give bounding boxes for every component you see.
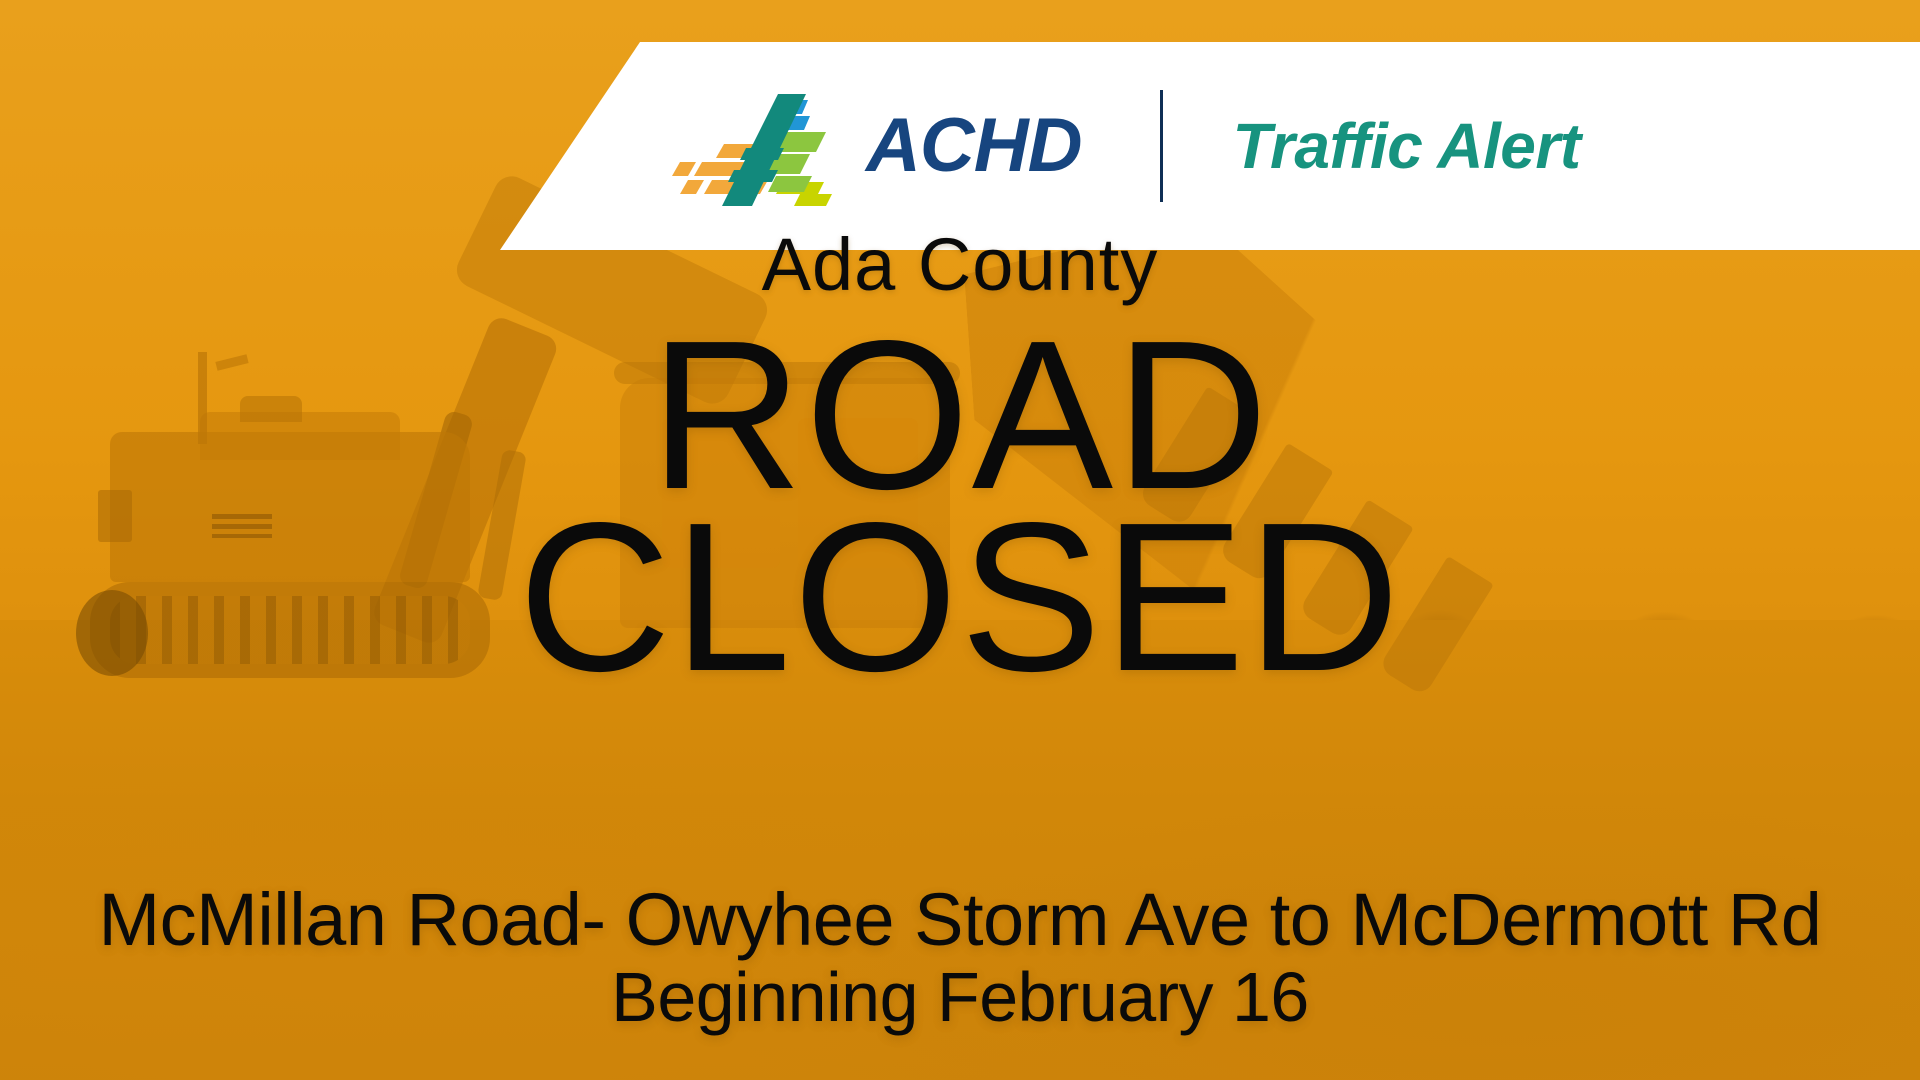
traffic-alert-graphic: ACHD Traffic Alert Ada County ROAD CLOSE… (0, 0, 1920, 1080)
achd-logo-icon (660, 86, 860, 206)
closure-location: McMillan Road- Owyhee Storm Ave to McDer… (0, 881, 1920, 959)
alert-copy: Ada County ROAD CLOSED (0, 228, 1920, 689)
banner-divider (1160, 90, 1163, 202)
alert-details: McMillan Road- Owyhee Storm Ave to McDer… (0, 881, 1920, 1034)
traffic-alert-label: Traffic Alert (1233, 114, 1581, 178)
headline: ROAD CLOSED (0, 324, 1920, 689)
achd-wordmark: ACHD (866, 108, 1082, 184)
county-label: Ada County (0, 228, 1920, 302)
headline-line-2: CLOSED (0, 506, 1920, 688)
closure-schedule: Beginning February 16 (0, 960, 1920, 1034)
